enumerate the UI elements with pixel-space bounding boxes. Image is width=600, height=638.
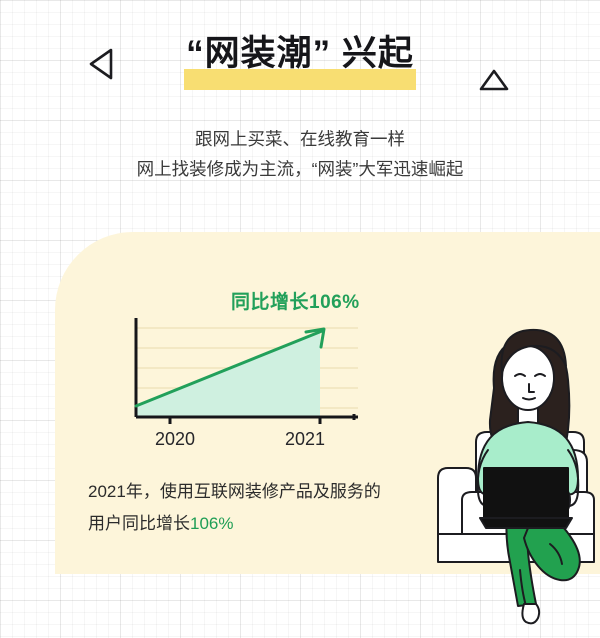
page-title: “网装潮” 兴起	[0, 36, 600, 71]
caption-line-2: 用户同比增长106%	[88, 508, 458, 540]
chart-area-fill	[136, 333, 320, 417]
subtitle: 跟网上买菜、在线教育一样 网上找装修成为主流，“网装”大军迅速崛起	[0, 124, 600, 184]
laptop-base	[480, 518, 572, 528]
title-text: “网装潮” 兴起	[186, 34, 414, 73]
woman-with-laptop-illustration	[432, 318, 600, 633]
chart-growth-label: 同比增长106%	[231, 287, 360, 314]
caption-growth-highlight: 106%	[190, 514, 233, 533]
triangle-up-outline-icon	[478, 68, 510, 97]
chart-xtick-label-2020: 2020	[155, 429, 195, 450]
caption-line-2-prefix: 用户同比增长	[88, 514, 190, 533]
caption: 2021年，使用互联网装修产品及服务的 用户同比增长106%	[88, 476, 458, 540]
growth-line-chart	[122, 312, 362, 437]
laptop-screen	[484, 468, 568, 518]
infographic-page: “网装潮” 兴起 跟网上买菜、在线教育一样 网上找装修成为主流，“网装”大军迅速…	[0, 0, 600, 638]
subtitle-line-2: 网上找装修成为主流，“网装”大军迅速崛起	[0, 154, 600, 184]
chart-xtick-label-2021: 2021	[285, 429, 325, 450]
caption-line-1: 2021年，使用互联网装修产品及服务的	[88, 476, 458, 508]
foot	[522, 604, 539, 623]
subtitle-line-1: 跟网上买菜、在线教育一样	[0, 124, 600, 154]
